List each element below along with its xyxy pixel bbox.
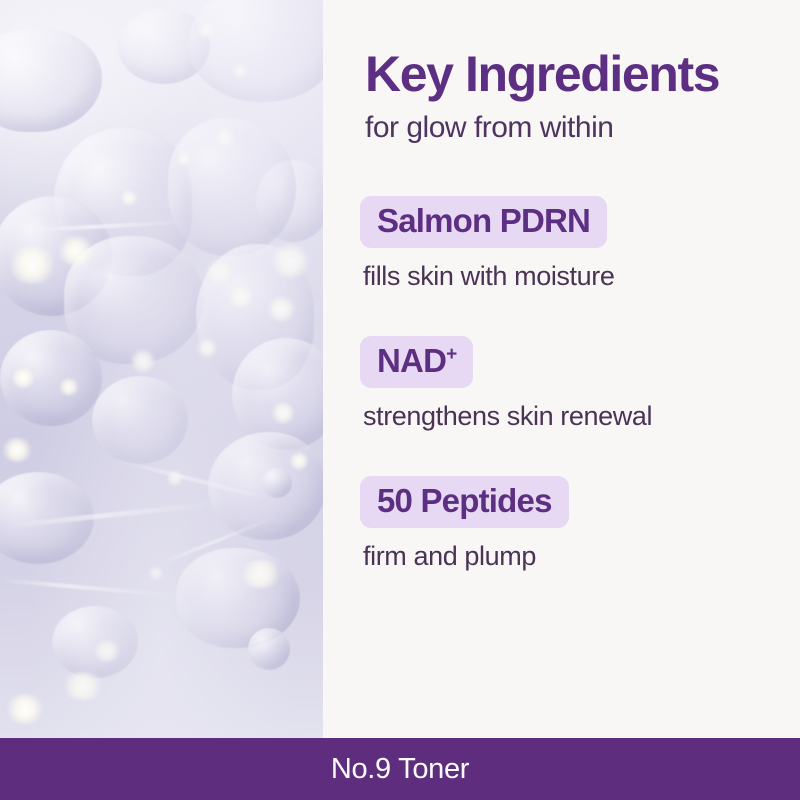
ingredient-name-badge: 50 Peptides (360, 476, 569, 528)
ingredient-name: Salmon PDRN (377, 202, 590, 239)
gel-texture-photo (0, 0, 323, 738)
product-ingredient-poster: Key Ingredients for glow from within Sal… (0, 0, 800, 800)
photo-haze-overlay (0, 0, 323, 738)
ingredient-name-superscript: + (446, 344, 456, 365)
ingredient-name-badge: Salmon PDRN (360, 196, 607, 248)
page-subtitle: for glow from within (365, 110, 613, 146)
ingredient-benefit: firm and plump (363, 540, 800, 572)
ingredients-content-panel: Key Ingredients for glow from within Sal… (323, 0, 800, 738)
ingredient-name: NAD (377, 342, 446, 379)
ingredient-name: 50 Peptides (377, 482, 552, 519)
list-item: Salmon PDRN fills skin with moisture (323, 196, 800, 292)
ingredient-name-badge: NAD+ (360, 336, 473, 388)
list-item: 50 Peptides firm and plump (323, 476, 800, 572)
product-name-banner: No.9 Toner (0, 738, 800, 800)
list-item: NAD+ strengthens skin renewal (323, 336, 800, 432)
product-name: No.9 Toner (331, 753, 469, 786)
ingredient-benefit: strengthens skin renewal (363, 400, 800, 432)
page-title: Key Ingredients (365, 48, 719, 100)
ingredient-list: Salmon PDRN fills skin with moisture NAD… (323, 196, 800, 572)
ingredient-benefit: fills skin with moisture (363, 260, 800, 292)
gel-photo-base (0, 0, 323, 738)
